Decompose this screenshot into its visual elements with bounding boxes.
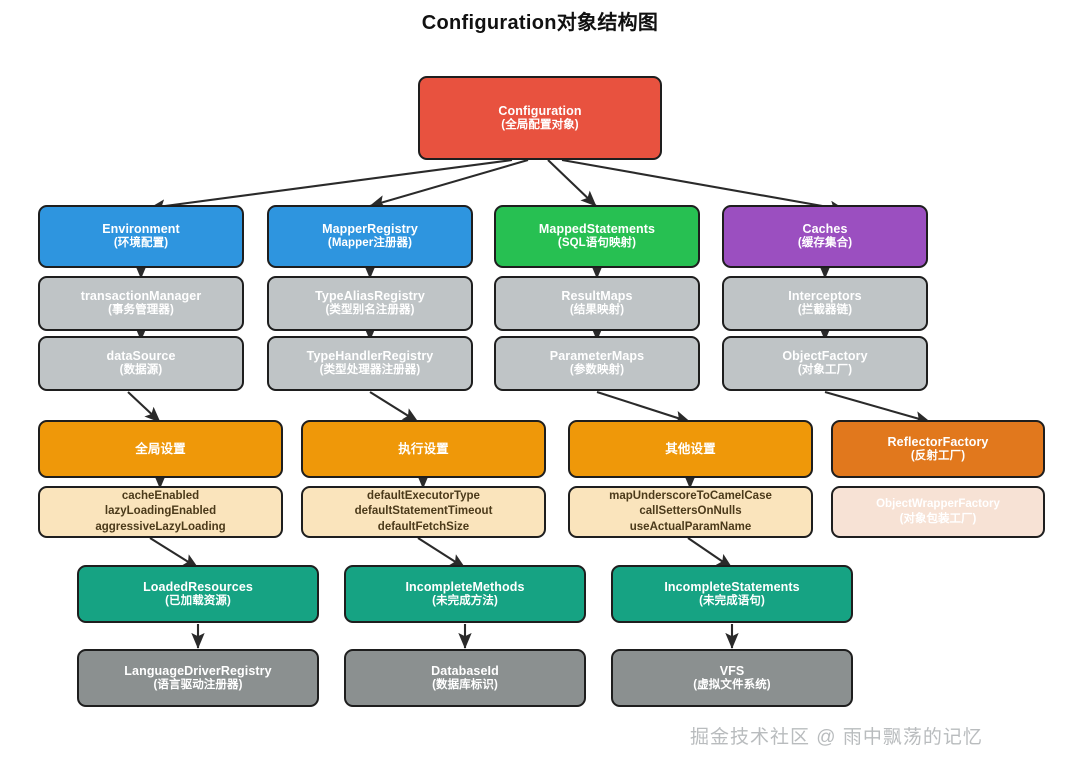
prop-item: aggressiveLazyLoading (95, 520, 225, 535)
prop-item: callSettersOnNulls (639, 504, 741, 519)
node-title: TypeAliasRegistry (315, 289, 425, 304)
node-title: 其他设置 (665, 442, 715, 457)
node-title: ReflectorFactory (888, 435, 989, 450)
node-mapperregistry[interactable]: MapperRegistry (Mapper注册器) (267, 205, 473, 268)
page-title: Configuration对象结构图 (0, 6, 1080, 35)
node-subtitle: (结果映射) (570, 304, 624, 318)
node-subtitle: (环境配置) (114, 237, 168, 251)
prop-item: defaultFetchSize (378, 520, 469, 535)
node-execution-settings[interactable]: 执行设置 (301, 420, 546, 478)
prop-item: mapUnderscoreToCamelCase (609, 489, 772, 504)
prop-item: defaultStatementTimeout (355, 504, 493, 519)
node-subtitle: (对象包装工厂) (900, 512, 977, 527)
node-title: LanguageDriverRegistry (124, 664, 271, 679)
node-incompletestatements[interactable]: IncompleteStatements (未完成语句) (611, 565, 853, 623)
node-datasource[interactable]: dataSource (数据源) (38, 336, 244, 391)
node-reflectorfactory[interactable]: ReflectorFactory (反射工厂) (831, 420, 1045, 478)
node-execution-settings-props[interactable]: defaultExecutorType defaultStatementTime… (301, 486, 546, 538)
prop-item: cacheEnabled (122, 489, 199, 504)
node-subtitle: (参数映射) (570, 364, 624, 378)
node-title: ObjectFactory (782, 349, 867, 364)
node-databaseid[interactable]: DatabaseId (数据库标识) (344, 649, 586, 707)
node-title: Environment (102, 222, 180, 237)
node-other-settings-props[interactable]: mapUnderscoreToCamelCase callSettersOnNu… (568, 486, 813, 538)
node-subtitle: (事务管理器) (108, 304, 174, 318)
node-resultmaps[interactable]: ResultMaps (结果映射) (494, 276, 700, 331)
node-title: DatabaseId (431, 664, 499, 679)
node-typehandlerregistry[interactable]: TypeHandlerRegistry (类型处理器注册器) (267, 336, 473, 391)
node-objectfactory[interactable]: ObjectFactory (对象工厂) (722, 336, 928, 391)
node-title: ParameterMaps (550, 349, 644, 364)
node-title: IncompleteStatements (664, 580, 799, 595)
node-subtitle: (类型别名注册器) (325, 304, 414, 318)
node-typealiasregistry[interactable]: TypeAliasRegistry (类型别名注册器) (267, 276, 473, 331)
node-global-settings[interactable]: 全局设置 (38, 420, 283, 478)
node-title: transactionManager (81, 289, 202, 304)
node-interceptors[interactable]: Interceptors (拦截器链) (722, 276, 928, 331)
node-subtitle: (未完成方法) (432, 595, 498, 609)
node-title: dataSource (106, 349, 175, 364)
node-title: 执行设置 (398, 442, 448, 457)
node-title: Interceptors (788, 289, 861, 304)
node-subtitle: (已加载资源) (165, 595, 231, 609)
node-loadedresources[interactable]: LoadedResources (已加载资源) (77, 565, 319, 623)
node-title: Configuration (498, 104, 581, 119)
node-configuration[interactable]: Configuration (全局配置对象) (418, 76, 662, 160)
node-subtitle: (语言驱动注册器) (153, 679, 242, 693)
node-title: VFS (720, 664, 745, 679)
diagram-canvas: Configuration对象结构图 (0, 0, 1080, 769)
node-subtitle: (反射工厂) (911, 450, 965, 464)
node-subtitle: (对象工厂) (798, 364, 852, 378)
node-subtitle: (Mapper注册器) (328, 237, 412, 251)
node-title: TypeHandlerRegistry (307, 349, 434, 364)
node-vfs[interactable]: VFS (虚拟文件系统) (611, 649, 853, 707)
node-global-settings-props[interactable]: cacheEnabled lazyLoadingEnabled aggressi… (38, 486, 283, 538)
node-objectwrapperfactory[interactable]: ObjectWrapperFactory (对象包装工厂) (831, 486, 1045, 538)
node-subtitle: (类型处理器注册器) (320, 364, 421, 378)
node-title: ObjectWrapperFactory (876, 497, 1000, 512)
node-subtitle: (拦截器链) (798, 304, 852, 318)
node-parametermaps[interactable]: ParameterMaps (参数映射) (494, 336, 700, 391)
prop-item: lazyLoadingEnabled (105, 504, 216, 519)
node-subtitle: (缓存集合) (798, 237, 852, 251)
node-subtitle: (虚拟文件系统) (693, 679, 770, 693)
node-title: 全局设置 (135, 442, 185, 457)
node-title: LoadedResources (143, 580, 253, 595)
node-other-settings[interactable]: 其他设置 (568, 420, 813, 478)
node-languagedriverregistry[interactable]: LanguageDriverRegistry (语言驱动注册器) (77, 649, 319, 707)
node-transactionmanager[interactable]: transactionManager (事务管理器) (38, 276, 244, 331)
node-subtitle: (未完成语句) (699, 595, 765, 609)
node-title: IncompleteMethods (405, 580, 524, 595)
node-incompletemethods[interactable]: IncompleteMethods (未完成方法) (344, 565, 586, 623)
prop-item: useActualParamName (630, 520, 751, 535)
node-caches[interactable]: Caches (缓存集合) (722, 205, 928, 268)
prop-item: defaultExecutorType (367, 489, 480, 504)
node-mappedstatements[interactable]: MappedStatements (SQL语句映射) (494, 205, 700, 268)
node-environment[interactable]: Environment (环境配置) (38, 205, 244, 268)
node-subtitle: (数据库标识) (432, 679, 498, 693)
node-title: MappedStatements (539, 222, 655, 237)
node-subtitle: (数据源) (120, 364, 163, 378)
node-title: MapperRegistry (322, 222, 418, 237)
node-title: Caches (802, 222, 847, 237)
node-subtitle: (SQL语句映射) (558, 237, 636, 251)
node-title: ResultMaps (561, 289, 632, 304)
node-subtitle: (全局配置对象) (501, 119, 578, 133)
watermark: 掘金技术社区 @ 雨中飘荡的记忆 (690, 722, 983, 749)
